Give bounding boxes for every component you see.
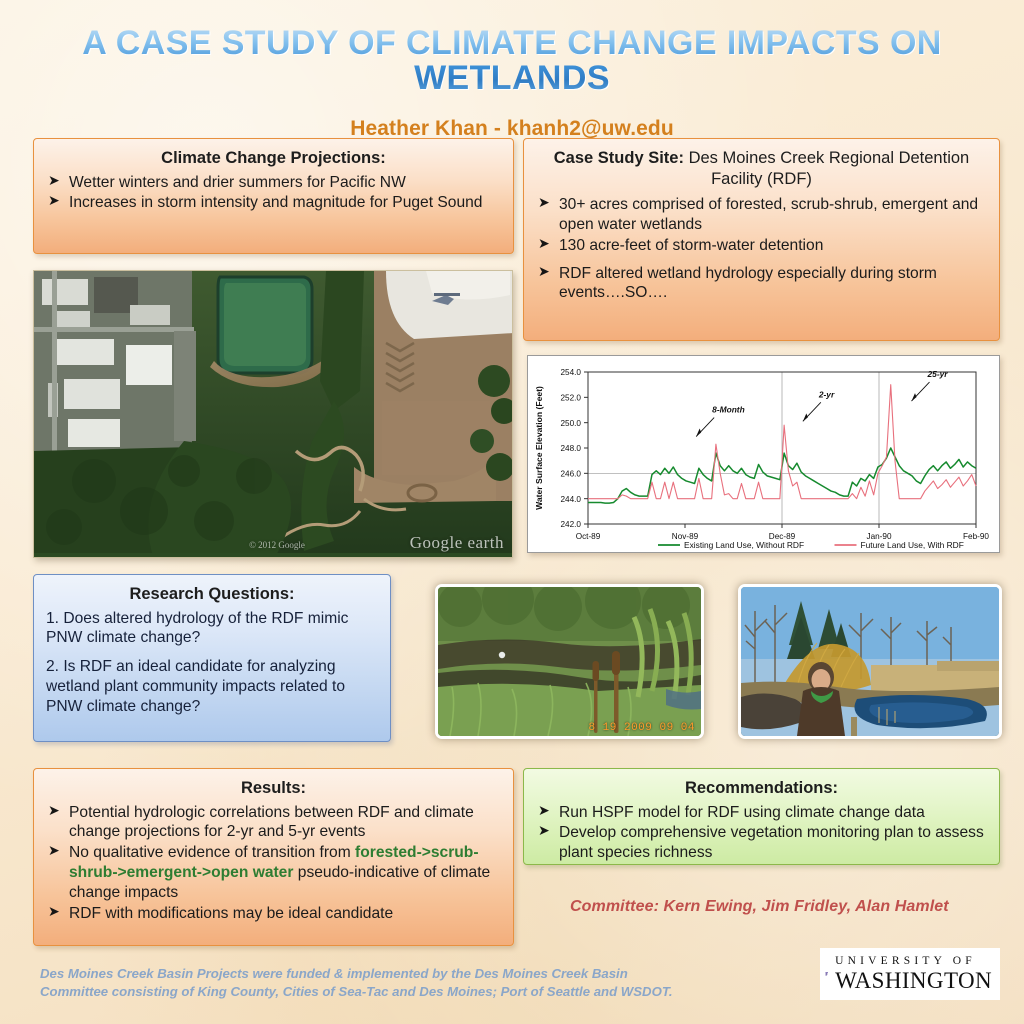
poster-header: A Case Study of Climate Change Impacts o… [0, 0, 1024, 141]
research-questions-box: Research Questions: 1. Does altered hydr… [33, 574, 391, 742]
wetland-photo-summer: 8 19 2009 09 04 [435, 584, 704, 739]
list-item: ➤No qualitative evidence of transition f… [46, 843, 501, 902]
list-item-text: Run HSPF model for RDF using climate cha… [559, 804, 925, 821]
svg-text:Feb-90: Feb-90 [963, 532, 989, 541]
list-item-text: Wetter winters and drier summers for Pac… [69, 174, 406, 191]
water-surface-elevation-chart: 242.0244.0246.0248.0250.0252.0254.0Water… [527, 355, 1000, 553]
arrow-bullet-icon: ➤ [48, 172, 60, 190]
list-item: ➤130 acre-feet of storm-water detention [536, 236, 987, 256]
uw-logo-text: UNIVERSITY OF WASHINGTON [835, 956, 992, 992]
list-item-text: Increases in storm intensity and magnitu… [69, 194, 482, 211]
svg-text:Existing Land Use, Without RDF: Existing Land Use, Without RDF [684, 540, 804, 550]
list-item-text: No qualitative evidence of transition fr… [69, 844, 355, 861]
research-question-1: 1. Does altered hydrology of the RDF mim… [46, 609, 378, 649]
uw-logo: UNIVERSITY OF WASHINGTON [820, 948, 1000, 1000]
uw-logo-line2: WASHINGTON [835, 969, 992, 992]
aerial-photo-graphic [34, 271, 513, 558]
list-item-text: 30+ acres comprised of forested, scrub-s… [559, 196, 978, 233]
climate-change-projections-box: Climate Change Projections: ➤Wetter wint… [33, 138, 514, 254]
list-item: ➤RDF with modifications may be ideal can… [46, 904, 501, 924]
list-item: ➤30+ acres comprised of forested, scrub-… [536, 195, 987, 235]
case-study-site-box: Case Study Site: Des Moines Creek Region… [523, 138, 1000, 341]
svg-text:242.0: 242.0 [561, 520, 582, 529]
results-box: Results: ➤Potential hydrologic correlati… [33, 768, 514, 946]
case-study-title-value: Des Moines Creek Regional Detention Faci… [684, 149, 969, 188]
svg-text:Future Land Use, With RDF: Future Land Use, With RDF [861, 540, 964, 550]
arrow-bullet-icon: ➤ [538, 263, 550, 281]
climate-box-list: ➤Wetter winters and drier summers for Pa… [46, 173, 501, 214]
list-item-text: RDF with modifications may be ideal cand… [69, 905, 393, 922]
climate-box-title: Climate Change Projections: [46, 148, 501, 169]
case-study-title-label: Case Study Site: [554, 149, 684, 167]
results-box-title: Results: [46, 778, 501, 799]
wetland-photo-winter [738, 584, 1002, 739]
title-reflection: A Case Study of Climate Change Impacts o… [0, 95, 1024, 111]
list-item: ➤RDF altered wetland hydrology especiall… [536, 264, 987, 304]
list-item-text: RDF altered wetland hydrology especially… [559, 265, 937, 302]
svg-text:246.0: 246.0 [561, 470, 582, 479]
list-item: ➤Run HSPF model for RDF using climate ch… [536, 803, 987, 823]
svg-text:2-yr: 2-yr [818, 389, 835, 399]
wetland-winter-graphic [741, 587, 999, 736]
research-box-title: Research Questions: [46, 584, 378, 605]
list-item-text: Potential hydrologic correlations betwee… [69, 804, 474, 841]
recommendations-box: Recommendations: ➤Run HSPF model for RDF… [523, 768, 1000, 865]
svg-text:254.0: 254.0 [561, 368, 582, 377]
svg-text:8-Month: 8-Month [712, 405, 745, 415]
uw-column-icon [825, 954, 828, 994]
funding-footer-note: Des Moines Creek Basin Projects were fun… [40, 965, 680, 1002]
arrow-bullet-icon: ➤ [48, 903, 60, 921]
research-question-2: 2. Is RDF an ideal candidate for analyzi… [46, 657, 378, 716]
list-item-text: Develop comprehensive vegetation monitor… [559, 824, 984, 861]
arrow-bullet-icon: ➤ [538, 194, 550, 212]
recommendations-box-title: Recommendations: [536, 778, 987, 799]
list-item-text: 130 acre-feet of storm-water detention [559, 237, 823, 254]
arrow-bullet-icon: ➤ [48, 842, 60, 860]
uw-logo-line1: UNIVERSITY OF [835, 956, 992, 968]
recommendations-box-list: ➤Run HSPF model for RDF using climate ch… [536, 803, 987, 863]
svg-text:25-yr: 25-yr [927, 369, 949, 379]
arrow-bullet-icon: ➤ [538, 802, 550, 820]
list-item: ➤Develop comprehensive vegetation monito… [536, 823, 987, 863]
list-item: ➤Potential hydrologic correlations betwe… [46, 803, 501, 843]
case-study-box-title: Case Study Site: Des Moines Creek Region… [536, 148, 987, 189]
arrow-bullet-icon: ➤ [538, 822, 550, 840]
arrow-bullet-icon: ➤ [48, 802, 60, 820]
case-study-box-list: ➤30+ acres comprised of forested, scrub-… [536, 195, 987, 303]
svg-text:250.0: 250.0 [561, 419, 582, 428]
svg-text:252.0: 252.0 [561, 394, 582, 403]
list-item: ➤Wetter winters and drier summers for Pa… [46, 173, 501, 193]
svg-text:Oct-89: Oct-89 [576, 532, 601, 541]
chart-svg: 242.0244.0246.0248.0250.0252.0254.0Water… [528, 356, 999, 552]
page-title: A Case Study of Climate Change Impacts o… [0, 26, 1024, 95]
committee-line: Committee: Kern Ewing, Jim Fridley, Alan… [570, 898, 1000, 916]
svg-text:248.0: 248.0 [561, 444, 582, 453]
list-item: ➤Increases in storm intensity and magnit… [46, 193, 501, 213]
svg-text:244.0: 244.0 [561, 495, 582, 504]
wetland-summer-graphic [438, 587, 701, 736]
results-box-list: ➤Potential hydrologic correlations betwe… [46, 803, 501, 924]
svg-text:Water Surface Elevation (Feet): Water Surface Elevation (Feet) [534, 386, 544, 510]
arrow-bullet-icon: ➤ [48, 192, 60, 210]
arrow-bullet-icon: ➤ [538, 235, 550, 253]
aerial-satellite-photo: © 2012 Google Google earth [33, 270, 513, 558]
